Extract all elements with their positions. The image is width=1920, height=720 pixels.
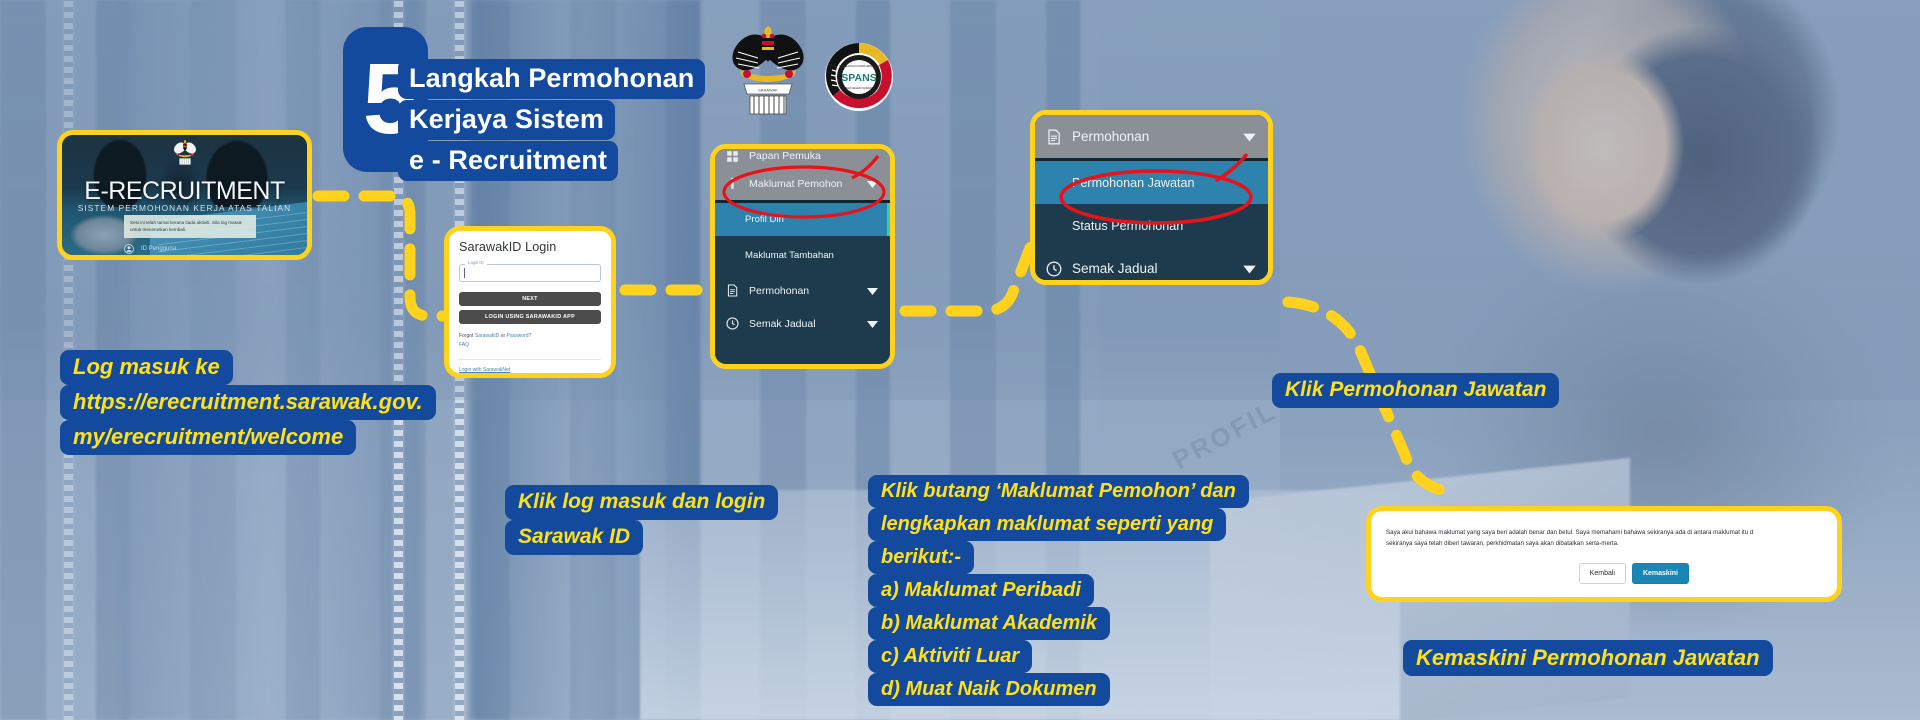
forgot-sarawakid-link[interactable]: SarawakID [475, 333, 499, 339]
kembali-button[interactable]: Kembali [1579, 563, 1626, 584]
kemaskini-button[interactable]: Kemaskini [1632, 563, 1689, 584]
menu-item-papan-pemuka[interactable]: Papan Pemuka [715, 145, 890, 167]
erec-title: E-RECRUITMENT [62, 177, 307, 206]
svg-text:SARAWAK: SARAWAK [758, 88, 778, 93]
menu-item-permohonan[interactable]: Permohonan [715, 274, 890, 307]
title-lines: Langkah Permohonan Kerjaya Sistem e - Re… [398, 59, 705, 182]
forgot-or: or [499, 333, 506, 339]
title-line-1: Langkah Permohonan [398, 59, 705, 99]
chevron-down-icon [1243, 264, 1256, 273]
svg-text:SPANS: SPANS [841, 72, 876, 84]
forgot-password-link[interactable]: Password? [507, 333, 532, 339]
caption-line: https://erecruitment.sarawak.gov. [60, 385, 436, 420]
sarawakid-help-links: Forgot SarawakID or Password? FAQ [459, 332, 601, 350]
info-icon [726, 177, 739, 190]
divider [459, 359, 601, 360]
caption-klik-permohonan-jawatan: Klik Permohonan Jawatan [1272, 373, 1559, 408]
login-with-sarawaknet-link[interactable]: Login with SarawakNet [459, 367, 601, 373]
screenshot-declaration-dialog[interactable]: Saya akui bahawa maklumat yang saya beri… [1366, 506, 1842, 602]
erec-session-alert: Sesi ini telah tamat kerana tiada aktivi… [124, 215, 256, 238]
sarawakid-loginid-input[interactable] [459, 264, 601, 282]
dashboard-icon [726, 150, 739, 163]
menu-label: Papan Pemuka [749, 150, 821, 162]
erec-crest-icon [168, 138, 202, 172]
page-title: 5 Langkah Permohonan Kerjaya Sistem e - … [343, 27, 743, 172]
menu-item-permohonan-jawatan[interactable]: Permohonan Jawatan [1035, 161, 1268, 204]
sarawakid-loginid-label: Login ID [465, 260, 487, 265]
menu-label: Status Permohonan [1072, 219, 1183, 233]
menu-label: Profil Diri [745, 214, 784, 225]
chevron-down-icon [867, 287, 878, 295]
menu-label: Permohonan [1072, 129, 1149, 144]
menu-item-status-permohonan[interactable]: Status Permohonan [1035, 204, 1268, 247]
menu-label: Maklumat Pemohon [749, 178, 842, 190]
menu-label: Permohonan Jawatan [1072, 176, 1195, 190]
caption-kemaskini-permohonan-jawatan: Kemaskini Permohonan Jawatan [1403, 640, 1773, 676]
caption-line: my/erecruitment/welcome [60, 420, 356, 455]
sarawakid-loginid-wrap[interactable]: Login ID [459, 264, 601, 282]
menu-label: Maklumat Tambahan [745, 250, 834, 261]
menu-item-profil-diri[interactable]: Profil Diri [715, 203, 890, 236]
logo-group: SARAWAK SPANS SURUHANJAYA PERKHIDMATAN A… [728, 22, 894, 132]
menu-item-semak-jadual[interactable]: Semak Jadual [715, 307, 890, 340]
caption-maklumat-pemohon-steps: Klik butang ‘Maklumat Pemohon’ dan lengk… [868, 475, 1249, 706]
declaration-line-1: Saya akui bahawa maklumat yang saya beri… [1386, 527, 1842, 538]
caption-line: a) Maklumat Peribadi [868, 574, 1094, 607]
caption-line: c) Aktiviti Luar [868, 640, 1032, 673]
chevron-down-icon [1243, 132, 1256, 141]
clock-icon [1046, 261, 1062, 277]
text-caret [464, 268, 465, 278]
document-icon [1046, 129, 1062, 145]
spans-logo-icon: SPANS SURUHANJAYA PERKHIDMATAN AWAM NEGE… [824, 42, 894, 112]
caption-line: Log masuk ke [60, 350, 233, 385]
declaration-line-2: sekiranya saya telah diberi tawaran, per… [1386, 538, 1842, 549]
caption-line: Kemaskini Permohonan Jawatan [1403, 640, 1773, 676]
declaration-button-group: Kembali Kemaskini [1579, 563, 1689, 584]
erec-userid-placeholder: ID Pengguna [141, 246, 176, 252]
screenshot-menu-permohonan[interactable]: Permohonan Permohonan Jawatan Status Per… [1030, 110, 1273, 285]
caption-klik-log-masuk: Klik log masuk dan login Sarawak ID [505, 485, 778, 555]
menu-item-permohonan[interactable]: Permohonan [1035, 115, 1268, 158]
sarawak-state-crest-icon: SARAWAK [728, 22, 808, 132]
svg-text:SURUHANJAYA PERKHIDMATAN: SURUHANJAYA PERKHIDMATAN [839, 64, 879, 68]
screenshot-menu-maklumat-pemohon[interactable]: Papan Pemuka Maklumat Pemohon Profil Dir… [710, 144, 895, 369]
caption-line: Klik log masuk dan login [505, 485, 778, 520]
menu-item-semak-jadual[interactable]: Semak Jadual [1035, 247, 1268, 285]
screenshot-sarawakid-login[interactable]: SarawakID Login Login ID NEXT LOGIN USIN… [444, 226, 616, 378]
title-line-2: Kerjaya Sistem [398, 100, 615, 140]
erec-subtitle: SISTEM PERMOHONAN KERJA ATAS TALIAN [62, 203, 307, 213]
sarawakid-title: SarawakID Login [459, 240, 601, 254]
svg-text:AWAM NEGERI SARAWAK: AWAM NEGERI SARAWAK [843, 86, 875, 90]
menu-item-maklumat-pemohon[interactable]: Maklumat Pemohon [715, 167, 890, 200]
user-icon [124, 244, 134, 254]
caption-login-url: Log masuk ke https://erecruitment.sarawa… [60, 350, 436, 455]
chevron-down-icon [867, 320, 878, 328]
caption-line: Klik butang ‘Maklumat Pemohon’ dan [868, 475, 1249, 508]
declaration-text: Saya akui bahawa maklumat yang saya beri… [1386, 527, 1842, 549]
sarawakid-app-login-button[interactable]: LOGIN USING SARAWAKID APP [459, 310, 601, 324]
erec-userid-field[interactable]: ID Pengguna [124, 241, 256, 257]
caption-line: b) Maklumat Akademik [868, 607, 1110, 640]
sarawakid-next-button[interactable]: NEXT [459, 292, 601, 306]
clock-icon [726, 317, 739, 330]
caption-line: Klik Permohonan Jawatan [1272, 373, 1559, 408]
menu-label: Permohonan [749, 285, 809, 297]
caption-line: d) Muat Naik Dokumen [868, 673, 1110, 706]
menu-label: Semak Jadual [1072, 261, 1158, 276]
caption-line: Sarawak ID [505, 520, 643, 555]
caption-line: berikut:- [868, 541, 974, 574]
menu-item-maklumat-tambahan[interactable]: Maklumat Tambahan [715, 236, 890, 274]
forgot-label: Forgot [459, 333, 475, 339]
menu-label: Semak Jadual [749, 318, 816, 330]
caption-line: lengkapkan maklumat seperti yang [868, 508, 1226, 541]
title-line-3: e - Recruitment [398, 141, 618, 181]
document-icon [726, 284, 739, 297]
chevron-down-icon [867, 180, 878, 188]
screenshot-erecruitment-landing[interactable]: E-RECRUITMENT SISTEM PERMOHONAN KERJA AT… [57, 130, 312, 260]
selected-edge [887, 203, 890, 236]
faq-link[interactable]: FAQ [459, 342, 469, 348]
